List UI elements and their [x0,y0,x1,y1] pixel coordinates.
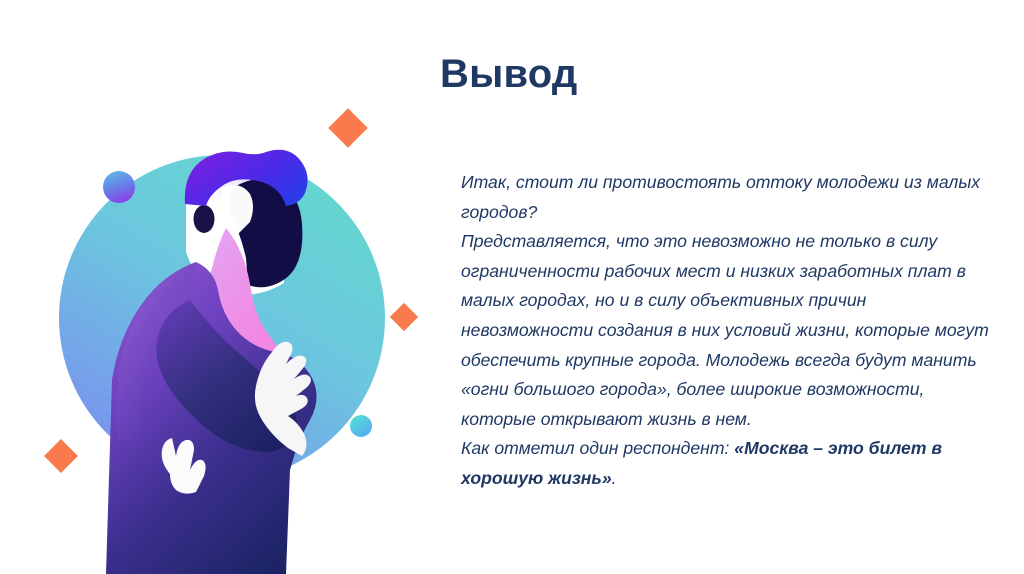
page-title: Вывод [440,51,980,97]
cyan-circle [350,415,372,437]
blue-purple-circle [103,171,135,203]
respondent-prefix: Как отметил один респондент: [461,438,734,458]
orange-diamond-bottom-left [44,439,78,473]
paragraph-respondent: Как отметил один респондент: «Москва – э… [461,434,991,493]
respondent-suffix: . [612,468,617,488]
eye [194,205,215,233]
orange-diamond-middle [390,303,418,331]
orange-diamond-top [328,108,368,148]
body-text-block: Итак, стоит ли противостоять оттоку моло… [461,168,991,494]
thinking-person-illustration [0,0,440,574]
slide-root: Вывод Итак, стоит ли противостоять отток… [0,0,1024,574]
paragraph-question: Итак, стоит ли противостоять оттоку моло… [461,168,991,227]
paragraph-explanation: Представляется, что это невозможно не то… [461,227,991,434]
